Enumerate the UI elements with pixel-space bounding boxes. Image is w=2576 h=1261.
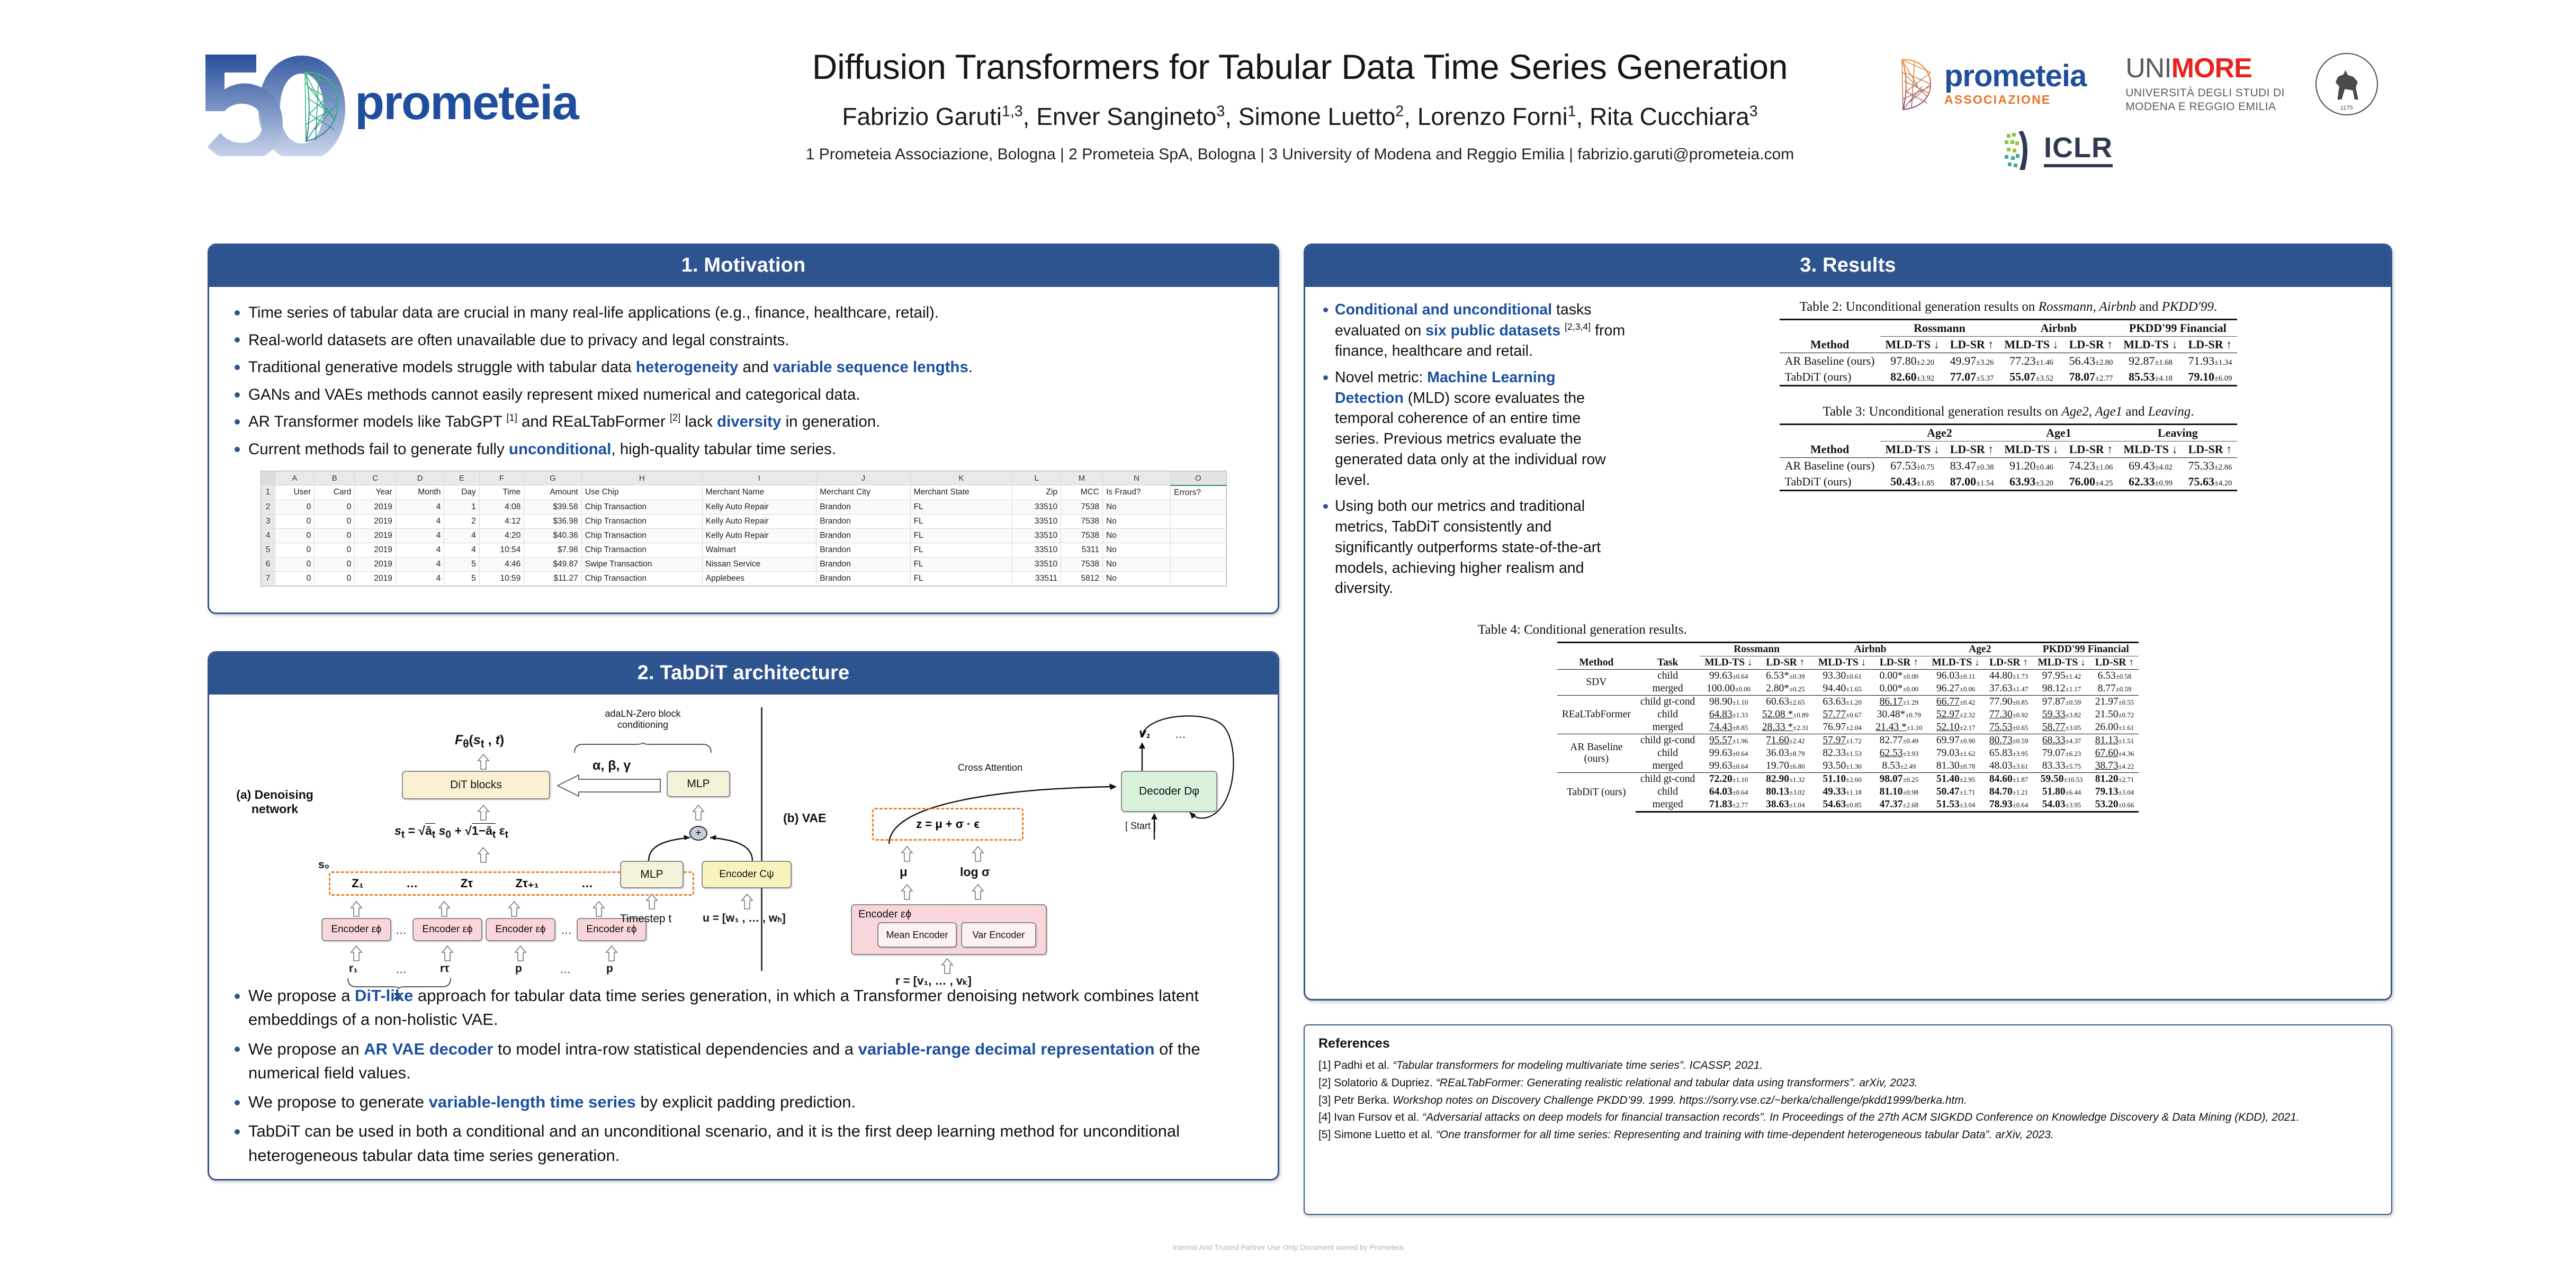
row-token-rtau: rτ [440,962,450,975]
value-cell: 87.00±1.54 [1945,474,1999,491]
table-row: REaLTabFormerchild gt-cond98.90±1.1060.6… [1557,696,2139,709]
value-cell: 21.43 *±1.10 [1871,721,1927,734]
sheet-cell: Brandon [816,543,910,557]
value-cell: 76.97±2.04 [1814,721,1871,734]
mlp-box-top: MLP [667,771,730,797]
task-cell: merged [1636,682,1700,696]
encoder-dots-2: … [561,924,572,937]
table4-caption: Table 4: Conditional generation results. [1319,623,2377,637]
latent-dots-2: … [581,877,593,890]
sheet-cell: 2019 [355,571,396,586]
sheet-col-C[interactable]: C [355,471,396,485]
table3-wrapper: Table 3: Unconditional generation result… [1640,404,2377,491]
s0-label: s₀ [318,859,329,871]
value-cell: 52.10±2.17 [1927,721,1984,734]
sheet-cell: Kelly Auto Repair [702,500,816,514]
value-cell: 71.60±2.42 [1757,734,1814,747]
table-row: 2002019414:08$39.58Chip TransactionKelly… [261,500,1226,514]
value-cell: 47.37±2.68 [1871,798,1927,812]
sheet-cell: 0 [275,500,315,514]
panel-results-title: 3. Results [1305,245,2391,287]
value-cell: 82.60±3.92 [1880,369,1945,386]
sheet-cell: Walmart [702,543,816,557]
list-item: Novel metric: Machine Learning Detection… [1319,367,1626,491]
group-header: PKDD'99 Financial [2118,320,2237,337]
unimore-subtitle-line2: MODENA E REGGIO EMILIA [2125,100,2285,114]
value-cell: 0.00*±0.00 [1871,682,1927,696]
value-cell: 76.00±4.25 [2064,474,2119,491]
group-header: Airbnb [1814,643,1927,656]
sheet-cell: 2019 [355,500,396,514]
curve-arrow-right [705,828,756,862]
value-cell: 92.87±1.68 [2118,353,2183,370]
sponsor-logos: prometeia ASSOCIAZIONE UNIMORE UNIVERSIT… [1896,48,2552,196]
sheet-header-cell: Use Chip [581,485,702,500]
sheet-rownum: 4 [261,528,275,543]
latent-z1: Z₁ [352,877,364,890]
value-cell: 36.03±8.79 [1757,747,1814,760]
method-cell: TabDiT (ours) [1780,474,1880,491]
panel-b-label: (b) VAE [783,811,826,825]
arrow-up-icon [593,901,605,917]
value-cell: 83.47±0.38 [1945,458,1999,474]
spreadsheet-column-letters: ABCDEFGHIJKLMNO [261,471,1226,485]
sheet-header-cell: Time [479,485,524,500]
value-cell: 6.53±0.58 [2090,670,2139,683]
metric-header: MLD-TS ↓ [2118,442,2183,458]
value-cell: 51.40±2.95 [1927,773,1984,786]
left-arrow-icon [555,774,661,797]
panel-motivation: 1. Motivation Time series of tabular dat… [208,244,1279,614]
task-cell: child gt-cond [1636,696,1700,709]
sheet-header-cell: User [275,485,315,500]
sheet-cell: 0 [315,514,355,528]
value-cell: 93.30±0.61 [1814,670,1871,683]
value-cell: 74.43±8.85 [1700,721,1757,734]
sheet-cell: Brandon [816,571,910,586]
value-cell: 53.20±0.66 [2090,798,2139,812]
sheet-cell: 4 [444,528,479,543]
value-cell: 44.80±1.73 [1985,670,2033,683]
sheet-cell: FL [910,500,1012,514]
value-cell: 6.53*±0.39 [1757,670,1814,683]
sheet-cell: 2019 [355,543,396,557]
affiliations: 1 Prometeia Associazione, Bologna | 2 Pr… [710,146,1890,164]
encoder-c-box: Encoder Cψ [702,861,792,888]
value-cell: 49.33±1.18 [1814,786,1871,798]
list-item: Time series of tabular data are crucial … [227,301,1260,326]
mean-encoder-box: Mean Encoder [877,922,957,948]
sheet-cell: Swipe Transaction [581,557,702,571]
arrow-up-icon [441,945,454,961]
sheet-cell: 4:12 [479,514,524,528]
sheet-cell: 7538 [1061,514,1103,528]
sheet-cell: 5 [444,557,479,571]
metric-header: LD-SR ↑ [1945,442,1999,458]
value-cell: 99.63±0.64 [1700,747,1757,760]
unimore-uni-text: UNI [2125,53,2171,84]
sheet-cell: $7.98 [524,543,581,557]
vae-encoder-label: Encoder εϕ [858,908,911,921]
sheet-cell: 0 [275,571,315,586]
metric-header: MLD-TS ↓ [1999,337,2063,353]
table-row: merged100.00±0.002.80*±0.2594.40±1.650.0… [1557,682,2139,696]
table-row: child64.83±1.3352.08 *±0.8957.77±0.6730.… [1557,708,2139,721]
value-cell: 59.50±10.53 [2033,773,2090,786]
list-item: Traditional generative models struggle w… [227,355,1260,380]
table-row: 4002019444:20$40.36Chip TransactionKelly… [261,528,1226,543]
metric-header: LD-SR ↑ [2064,442,2119,458]
sheet-cell: Chip Transaction [581,500,702,514]
sheet-cell: 0 [275,557,315,571]
title-block: Diffusion Transformers for Tabular Data … [710,48,1890,164]
iclr-mark-icon [2001,130,2034,171]
metric-header: MLD-TS ↓ [1700,656,1757,670]
sheet-cell: 5311 [1061,543,1103,557]
seal-year: 1175 [2340,105,2353,111]
sheet-cell: No [1102,571,1170,586]
sheet-cell: Chip Transaction [581,528,702,543]
value-cell: 81.30±0.78 [1927,760,1984,773]
value-cell: 82.77±0.49 [1871,734,1927,747]
value-cell: 62.53±3.93 [1871,747,1927,760]
task-cell: child [1636,786,1700,798]
table-row: merged74.43±8.8528.33 *±2.3176.97±2.0421… [1557,721,2139,734]
arrow-up-icon [941,958,954,974]
value-cell: 19.70±6.80 [1757,760,1814,773]
sheet-cell: FL [910,528,1012,543]
table-row: 1UserCardYearMonthDayTimeAmountUse ChipM… [261,485,1226,500]
unimore-subtitle-line1: UNIVERSITÀ DEGLI STUDI DI [2125,86,2285,100]
footer-note: Internal And Trusted Partner Use Only Do… [0,1243,2576,1251]
table-row: TabDiT (ours)82.60±3.9277.07±5.3755.07±3… [1780,369,2238,386]
sheet-cell: 4 [396,557,444,571]
sheet-cell: Chip Transaction [581,514,702,528]
list-item: Current methods fail to generate fully u… [227,437,1260,462]
sheet-cell: Applebees [702,571,816,586]
sheet-cell: No [1102,557,1170,571]
sheet-col-F[interactable]: F [479,471,524,485]
encoder-dots-1: … [396,924,407,937]
denoiser-output-formula: Fθ(st , t) [455,733,504,751]
sheet-cell: 4 [396,543,444,557]
group-header: Age2 [1880,425,1999,442]
sheet-col-B[interactable]: B [315,471,355,485]
arrow-start-in [1150,812,1159,840]
sheet-cell: 10:54 [479,543,524,557]
group-header: Age2 [1927,643,2033,656]
metric-header: MLD-TS ↓ [2118,337,2183,353]
value-cell: 81.20±2.71 [2090,773,2139,786]
encoder-eps-box-1: Encoder εϕ [321,918,391,941]
sheet-cell: 7538 [1061,500,1103,514]
sample-spreadsheet: ABCDEFGHIJKLMNO 1UserCardYearMonthDayTim… [261,471,1227,587]
panel-architecture-title: 2. TabDiT architecture [209,653,1278,695]
sheet-cell: FL [910,571,1012,586]
arrow-up-icon [477,847,490,863]
value-cell: 75.53±0.65 [1985,721,2033,734]
svg-text:prometeia: prometeia [355,76,580,130]
list-item: AR Transformer models like TabGPT [1] an… [227,410,1260,435]
value-cell: 57.97±1.72 [1814,734,1871,747]
value-cell: 95.57±1.96 [1700,734,1757,747]
task-cell: child [1636,670,1700,683]
arrow-up-icon [477,805,490,821]
sheet-cell: Brandon [816,514,910,528]
panel-architecture: 2. TabDiT architecture (a) Denoisingnetw… [208,651,1279,1181]
arrow-up-icon [741,894,753,909]
table-row: child99.63±0.6436.03±8.7982.33±1.5362.53… [1557,747,2139,760]
table-row: RossmannAirbnbPKDD'99 Financial [1780,320,2238,337]
row-token-p2: p [606,962,613,975]
list-item: GANs and VAEs methods cannot easily repr… [227,383,1260,408]
prometeia-associazione-logo: prometeia ASSOCIAZIONE [1896,57,2086,112]
task-cell: merged [1636,798,1700,812]
arrow-up-icon [438,901,451,917]
value-cell: 79.07±6.23 [2033,747,2090,760]
reference-item: [3] Petr Berka. Workshop notes on Discov… [1318,1093,2377,1109]
value-cell: 82.90±1.32 [1757,773,1814,786]
sheet-header-cell: Merchant Name [702,485,816,500]
method-cell: SDV [1557,670,1636,696]
motivation-bullet-list: Time series of tabular data are crucial … [227,301,1260,462]
value-cell: 65.83±3.95 [1985,747,2033,760]
sheet-cell: 33510 [1012,500,1061,514]
arrow-up-icon [972,884,984,900]
table-row: 3002019424:12$36.98Chip TransactionKelly… [261,514,1226,528]
metric-header: MLD-TS ↓ [1880,442,1945,458]
sheet-cell: No [1102,500,1170,514]
sheet-col-D[interactable]: D [396,471,444,485]
row-token-p1: p [515,962,522,975]
page-title: Diffusion Transformers for Tabular Data … [710,48,1890,87]
mu-label: μ [900,865,908,880]
sheet-cell [1171,543,1226,557]
value-cell: 98.07±0.25 [1871,773,1927,786]
method-cell: AR Baseline(ours) [1557,734,1636,773]
value-cell: 0.00*±0.00 [1871,670,1927,683]
task-cell: child gt-cond [1636,773,1700,786]
sheet-header-cell: Merchant State [910,485,1012,500]
sheet-cell [1171,571,1226,586]
sheet-cell: $39.58 [524,500,581,514]
alpha-beta-gamma-label: α, β, γ [593,758,631,773]
value-cell: 63.63±1.20 [1814,696,1871,709]
sheet-col-E[interactable]: E [444,471,479,485]
sheet-cell: No [1102,514,1170,528]
sheet-cell: No [1102,528,1170,543]
spreadsheet-body: 1UserCardYearMonthDayTimeAmountUse ChipM… [261,485,1226,586]
arrow-up-icon [508,901,520,917]
architecture-bullet-list: We propose a DiT-like approach for tabul… [227,984,1260,1167]
value-cell: 68.33±4.37 [2033,734,2090,747]
group-header: Leaving [2118,425,2237,442]
value-cell: 100.00±0.00 [1700,682,1757,696]
value-cell: 56.43±2.80 [2064,353,2119,370]
value-cell: 60.63±2.65 [1757,696,1814,709]
value-cell: 99.63±0.64 [1700,670,1757,683]
metric-header: LD-SR ↑ [2090,656,2139,670]
value-cell: 79.10±6.09 [2183,369,2237,386]
reference-item: [1] Padhi et al. “Tabular transformers f… [1318,1058,2377,1074]
metric-header: MLD-TS ↓ [1927,656,1984,670]
group-header: Airbnb [1999,320,2118,337]
list-item: Using both our metrics and traditional m… [1319,496,1626,599]
arrow-up-icon [350,945,363,961]
iclr-wordmark: ICLR [2044,133,2113,167]
table4-wrapper: Table 4: Conditional generation results.… [1319,623,2377,813]
table-row: merged99.63±0.6419.70±6.8093.50±1.308.53… [1557,760,2139,773]
sheet-col-L[interactable]: L [1012,471,1061,485]
table3: Age2Age1LeavingMethodMLD-TS ↓LD-SR ↑MLD-… [1780,424,2238,491]
sheet-cell [1171,500,1226,514]
table3-caption: Table 3: Unconditional generation result… [1640,404,2377,419]
list-item: We propose an AR VAE decoder to model in… [227,1037,1260,1085]
row-token-dots-1: … [396,963,407,976]
method-cell: REaLTabFormer [1557,696,1636,734]
sheet-cell: 0 [315,571,355,586]
sheet-cell: 4 [396,514,444,528]
value-cell: 54.03±3.95 [2033,798,2090,812]
arrow-up-icon [350,901,363,917]
value-cell: 79.03±1.62 [1927,747,1984,760]
adaln-conditioning-label: adaLN-Zero blockconditioning [577,708,709,731]
table-row: MethodMLD-TS ↓LD-SR ↑MLD-TS ↓LD-SR ↑MLD-… [1780,337,2238,353]
value-cell: 62.33±0.99 [2118,474,2183,491]
table-row: child64.03±0.6480.13±3.0249.33±1.1881.10… [1557,786,2139,798]
sheet-cell [1171,528,1226,543]
references-list: [1] Padhi et al. “Tabular transformers f… [1318,1058,2377,1143]
sheet-header-cell: Year [355,485,396,500]
value-cell: 81.13±1.51 [2090,734,2139,747]
sheet-cell: 2 [444,514,479,528]
table-row: RossmannAirbnbAge2PKDD'99 Financial [1557,643,2139,656]
author-list: Fabrizio Garuti1,3, Enver Sangineto3, Si… [710,103,1890,131]
metric-header: LD-SR ↑ [2064,337,2119,353]
sheet-cell: 4 [396,571,444,586]
panel-motivation-title: 1. Motivation [209,245,1278,287]
table-row: AR Baseline (ours)67.53±0.7583.47±0.3891… [1780,458,2238,474]
value-cell: 96.03±0.11 [1927,670,1984,683]
value-cell: 49.97±3.26 [1945,353,1999,370]
value-cell: 97.95±1.42 [2033,670,2090,683]
var-encoder-box: Var Encoder [961,922,1036,948]
value-cell: 71.93±1.34 [2183,353,2237,370]
diffusion-forward-formula: st = √āt s0 + √1−āt εt [394,824,508,841]
value-cell: 82.33±1.53 [1814,747,1871,760]
metric-header: LD-SR ↑ [2183,442,2237,458]
sheet-cell: $36.98 [524,514,581,528]
tabdit-architecture-figure: (a) Denoisingnetwork Fθ(st , t) DiT bloc… [227,703,1262,978]
value-cell: 54.63±0.85 [1814,798,1871,812]
value-cell: 84.60±1.87 [1985,773,2033,786]
sheet-col-A[interactable]: A [275,471,315,485]
sheet-cell: 33511 [1012,571,1061,586]
sheet-header-cell: Zip [1012,485,1061,500]
sheet-cell: 4 [396,500,444,514]
table-row: SDVchild99.63±0.646.53*±0.3993.30±0.610.… [1557,670,2139,683]
value-cell: 51.80±6.44 [2033,786,2090,798]
timestep-label: Timestep t [620,913,671,925]
sheet-col-G[interactable]: G [524,471,581,485]
value-cell: 98.90±1.10 [1700,696,1757,709]
sheet-cell: 5812 [1061,571,1103,586]
value-cell: 78.93±0.64 [1985,798,2033,812]
arrow-up-icon [645,894,658,909]
value-cell: 30.48*±0.79 [1871,708,1927,721]
sheet-col-O[interactable]: O [1171,471,1226,485]
value-cell: 51.53±3.04 [1927,798,1984,812]
value-cell: 71.83±2.77 [1700,798,1757,812]
sheet-cell: 0 [315,557,355,571]
value-cell: 84.70±1.21 [1985,786,2033,798]
reference-item: [4] Ivan Fursov et al. “Adversarial atta… [1318,1110,2377,1125]
sheet-cell: 4 [396,528,444,543]
value-cell: 64.83±1.33 [1700,708,1757,721]
table-row: 6002019454:46$49.87Swipe TransactionNiss… [261,557,1226,571]
method-cell: AR Baseline (ours) [1780,353,1880,370]
row-token-dots-2: … [560,963,571,976]
panel-results: 3. Results Conditional and unconditional… [1304,244,2392,1001]
table-row: AR Baseline (ours)97.80±2.2049.97±3.2677… [1780,353,2238,370]
arrow-up-icon [514,945,527,961]
mlp-box-timestep: MLP [620,861,684,888]
brace-icon [572,742,715,754]
sheet-col-J[interactable]: J [816,471,910,485]
latent-dots-1: … [406,877,418,890]
sheet-cell: 0 [275,543,315,557]
value-cell: 85.53±4.18 [2118,369,2183,386]
sheet-cell: 5 [444,571,479,586]
list-item: TabDiT can be used in both a conditional… [227,1119,1260,1167]
table2-wrapper: Table 2: Unconditional generation result… [1640,300,2377,386]
poster-header: prometeia Diffusion Transformers for Tab… [0,0,2576,212]
value-cell: 98.12±1.17 [2033,682,2090,696]
iclr-logo: ICLR [2001,130,2113,171]
group-header: Age1 [1999,425,2118,442]
sheet-cell [1171,514,1226,528]
sheet-cell: 33510 [1012,528,1061,543]
sheet-col-K[interactable]: K [910,471,1012,485]
sheet-cell: 0 [315,500,355,514]
value-cell: 83.33±5.75 [2033,760,2090,773]
value-cell: 72.20±1.10 [1700,773,1757,786]
spreadsheet-table: ABCDEFGHIJKLMNO 1UserCardYearMonthDayTim… [261,471,1226,586]
sheet-rownum: 3 [261,514,275,528]
sheet-col-I[interactable]: I [702,471,816,485]
value-cell: 52.08 *±0.89 [1757,708,1814,721]
value-cell: 97.87±0.59 [2033,696,2090,709]
metric-header: MLD-TS ↓ [1814,656,1871,670]
value-cell: 38.73±4.22 [2090,760,2139,773]
method-cell: AR Baseline (ours) [1780,458,1880,474]
sheet-cell: Chip Transaction [581,571,702,586]
value-cell: 80.73±0.59 [1985,734,2033,747]
sheet-cell: 4:08 [479,500,524,514]
sheet-col-N[interactable]: N [1102,471,1170,485]
sheet-header-cell: Errors? [1171,485,1226,500]
sheet-cell: 0 [275,514,315,528]
sheet-cell: 0 [315,543,355,557]
sheet-cell: 0 [315,528,355,543]
sheet-col-H[interactable]: H [581,471,702,485]
value-cell: 55.07±3.52 [1999,369,2063,386]
method-header: Method [1780,442,1880,458]
sheet-col-M[interactable]: M [1061,471,1103,485]
u-formula-label: u = [w₁ , … , wₕ] [703,912,786,925]
sheet-rownum: 1 [261,485,275,500]
value-cell: 58.77±3.05 [2033,721,2090,734]
